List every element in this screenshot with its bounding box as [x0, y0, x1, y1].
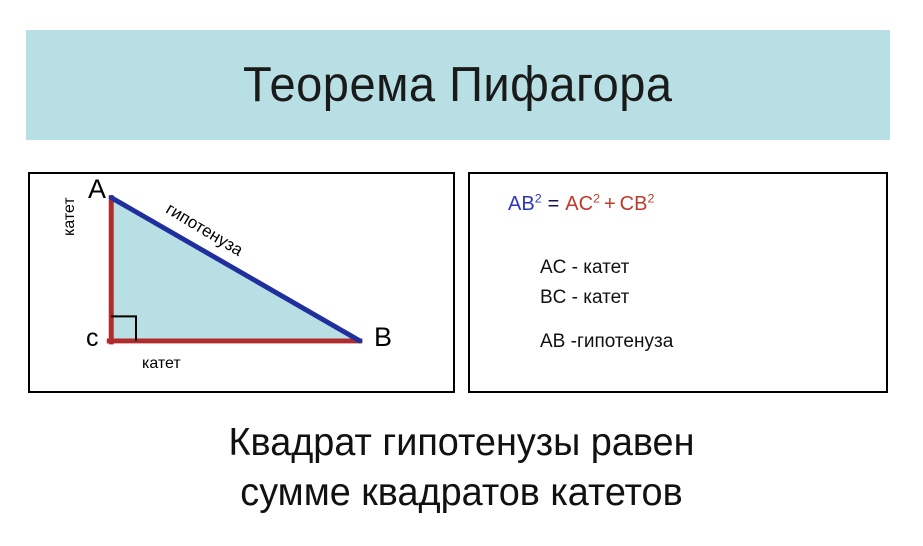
equation-left-term: AB2: [508, 193, 542, 215]
theorem-statement-line-2: сумме квадратов катетов: [14, 468, 909, 518]
equation-left-base: AB: [508, 193, 535, 215]
vertex-label-b: B: [374, 324, 392, 351]
leg-horizontal-label: катет: [142, 356, 181, 372]
right-triangle-figure: [30, 174, 453, 391]
vertex-label-a: A: [88, 176, 106, 203]
theorem-statement: Квадрат гипотенузы равен сумме квадратов…: [0, 418, 923, 518]
equation-right-second-base: CB: [620, 193, 648, 215]
definition-bc: BC - катет: [540, 288, 629, 307]
theorem-statement-line-1: Квадрат гипотенузы равен: [14, 418, 909, 468]
vertex-label-c: с: [86, 326, 99, 351]
formula-panel: AB2=AC2+CB2 AC - катет BC - катет AB -ги…: [468, 172, 888, 393]
definition-ac: AC - катет: [540, 258, 629, 277]
equation-right-second-exponent: 2: [647, 191, 654, 205]
page-title: Теорема Пифагора: [243, 61, 673, 110]
equation-right-first-base: AC: [565, 193, 593, 215]
leg-vertical-label: катет: [62, 197, 78, 236]
pythagorean-equation: AB2=AC2+CB2: [508, 194, 654, 214]
equation-equals-sign: =: [542, 193, 566, 215]
equation-left-exponent: 2: [535, 191, 542, 205]
equation-plus-sign: +: [600, 193, 620, 215]
definition-ab: AB -гипотенуза: [540, 332, 673, 351]
title-banner: Теорема Пифагора: [26, 30, 890, 140]
equation-right-first-exponent: 2: [593, 191, 600, 205]
equation-right-terms: AC2+CB2: [565, 193, 654, 215]
triangle-diagram-panel: A с B катет катет гипотенуза: [28, 172, 455, 393]
